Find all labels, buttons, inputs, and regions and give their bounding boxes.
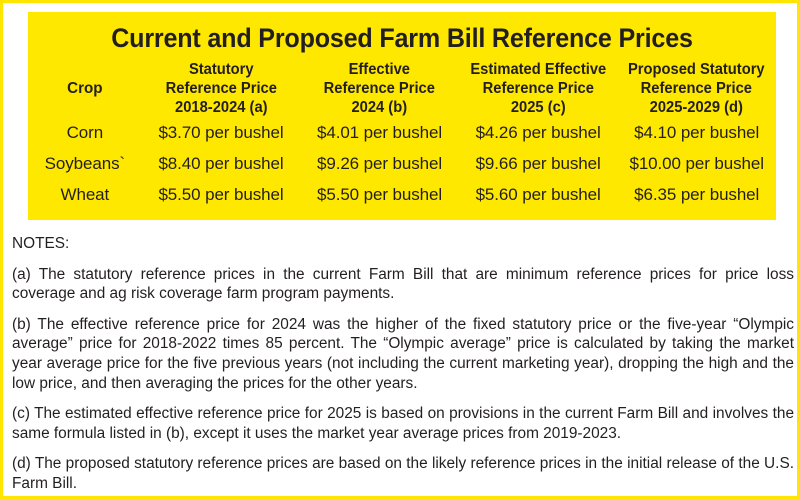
note-d: (d) The proposed statutory reference pri… (12, 454, 794, 493)
column-header-crop: Crop (28, 60, 142, 117)
column-header-proposed-statutory-2025-2029: Proposed Statutory Reference Price 2025-… (617, 60, 776, 117)
note-b: (b) The effective reference price for 20… (12, 315, 794, 393)
table-row: Corn $3.70 per bushel $4.01 per bushel $… (28, 117, 776, 148)
page-title: Current and Proposed Farm Bill Reference… (54, 23, 750, 54)
cell-crop: Wheat (28, 179, 142, 210)
note-c: (c) The estimated effective reference pr… (12, 404, 794, 443)
cell-crop: Corn (28, 117, 142, 148)
notes-heading: NOTES: (12, 234, 794, 254)
column-header-line-3: 2024 (b) (304, 98, 455, 117)
column-header-line-3: 2018-2024 (a) (146, 98, 297, 117)
table-body: Corn $3.70 per bushel $4.01 per bushel $… (28, 117, 776, 210)
cell-effective-2024: $4.01 per bushel (300, 117, 459, 148)
cell-effective-2024: $9.26 per bushel (300, 148, 459, 179)
cell-statutory-2018-2024: $5.50 per bushel (142, 179, 301, 210)
cell-proposed-statutory-2025-2029: $4.10 per bushel (617, 117, 776, 148)
cell-effective-2024: $5.50 per bushel (300, 179, 459, 210)
reference-prices-table: Crop Statutory Reference Price 2018-2024… (28, 60, 776, 210)
cell-statutory-2018-2024: $3.70 per bushel (142, 117, 301, 148)
column-header-line-2: Reference Price (304, 79, 455, 98)
column-header-line-3: 2025-2029 (d) (621, 98, 772, 117)
cell-statutory-2018-2024: $8.40 per bushel (142, 148, 301, 179)
cell-proposed-statutory-2025-2029: $10.00 per bushel (617, 148, 776, 179)
table-row: Wheat $5.50 per bushel $5.50 per bushel … (28, 179, 776, 210)
column-header-statutory-2018-2024: Statutory Reference Price 2018-2024 (a) (142, 60, 301, 117)
column-header-line-2: Reference Price (621, 79, 772, 98)
column-header-line-2: Reference Price (463, 79, 614, 98)
cell-estimated-effective-2025: $9.66 per bushel (459, 148, 618, 179)
cell-estimated-effective-2025: $5.60 per bushel (459, 179, 618, 210)
cell-estimated-effective-2025: $4.26 per bushel (459, 117, 618, 148)
table-header: Crop Statutory Reference Price 2018-2024… (28, 60, 776, 117)
table-header-row: Crop Statutory Reference Price 2018-2024… (28, 60, 776, 117)
column-header-line-1: Statutory (146, 60, 297, 79)
table-panel: Current and Proposed Farm Bill Reference… (28, 12, 776, 220)
note-a: (a) The statutory reference prices in th… (12, 265, 794, 304)
cell-crop: Soybeans` (28, 148, 142, 179)
column-header-line-1: Proposed Statutory (621, 60, 772, 79)
notes-section: NOTES: (a) The statutory reference price… (12, 234, 794, 494)
column-header-line-2: Reference Price (146, 79, 297, 98)
column-header-line-3: 2025 (c) (463, 98, 614, 117)
cell-proposed-statutory-2025-2029: $6.35 per bushel (617, 179, 776, 210)
column-header-line-1: Estimated Effective (463, 60, 614, 79)
column-header-estimated-effective-2025: Estimated Effective Reference Price 2025… (459, 60, 618, 117)
reference-prices-infographic: Current and Proposed Farm Bill Reference… (0, 0, 800, 499)
column-header-line-1: Effective (304, 60, 455, 79)
column-header-crop-line: Crop (31, 79, 139, 98)
column-header-effective-2024: Effective Reference Price 2024 (b) (300, 60, 459, 117)
table-row: Soybeans` $8.40 per bushel $9.26 per bus… (28, 148, 776, 179)
